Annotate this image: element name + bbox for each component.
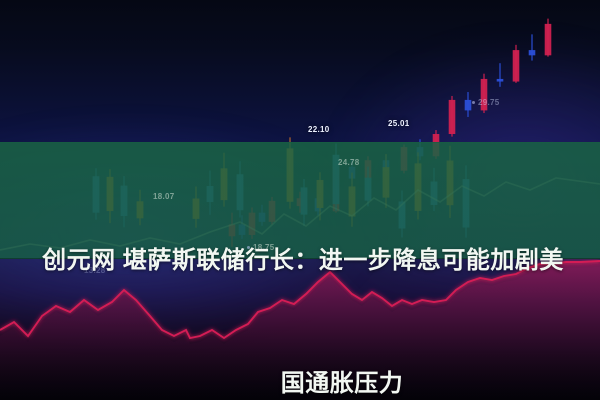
news-banner-image: 18.0722.1025.0124.7818.7529.7513.28 创元网 … bbox=[0, 0, 600, 400]
candlestick bbox=[465, 92, 472, 117]
label-2210-value: 22.10 bbox=[308, 125, 330, 134]
candlestick bbox=[449, 96, 456, 137]
label-2501-value: 25.01 bbox=[388, 119, 410, 128]
headline-line-2: 国通胀压力 bbox=[0, 363, 600, 400]
label-2975-value: 29.75 bbox=[478, 98, 500, 107]
label-2975: 29.75 bbox=[472, 98, 500, 107]
headline-line-1: 创元网 堪萨斯联储行长：进一步降息可能加剧美 bbox=[0, 240, 600, 281]
candlestick bbox=[529, 34, 536, 60]
candlestick bbox=[513, 45, 520, 83]
candlestick bbox=[497, 63, 504, 87]
candlestick bbox=[545, 19, 552, 57]
label-2210: 22.10 bbox=[308, 125, 330, 134]
headline-text: 创元网 堪萨斯联储行长：进一步降息可能加剧美 国通胀压力 bbox=[0, 158, 600, 400]
label-2501: 25.01 bbox=[388, 119, 410, 128]
candlestick bbox=[481, 74, 488, 113]
price-marker-dot-icon bbox=[472, 101, 475, 104]
